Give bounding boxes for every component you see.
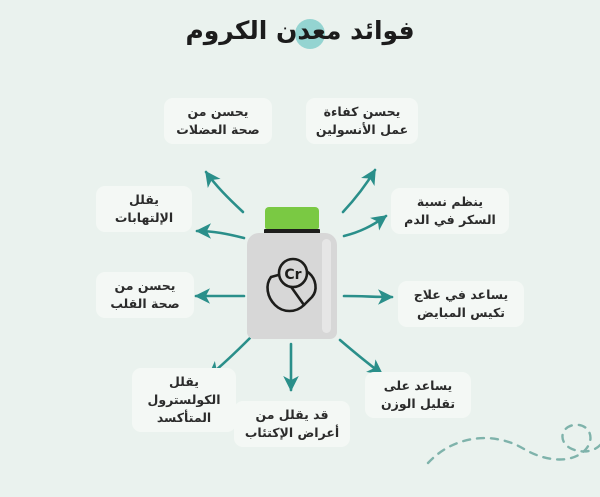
benefit-label-pcos-treatment[interactable]: يساعد في علاج تكيس المبايض: [398, 281, 524, 327]
arrow-insulin-efficiency: [343, 170, 375, 212]
decorative-dashed-swirl: [424, 411, 600, 491]
benefit-label-oxidized-cholesterol[interactable]: يقلل الكولسترول المتأكسد: [132, 368, 236, 432]
infographic-canvas: فوائد معدن الكروم: [0, 0, 600, 497]
arrow-blood-sugar: [344, 216, 386, 236]
benefit-label-inflammation[interactable]: يقلل الإلتهابات: [96, 186, 192, 232]
arrow-muscle-health: [206, 172, 243, 212]
chromium-capsule-icon: Cr: [263, 255, 321, 317]
arrow-weight-loss: [340, 340, 382, 374]
benefit-label-depression[interactable]: قد يقلل من أعراض الإكتئاب: [234, 401, 350, 447]
benefit-label-heart-health[interactable]: يحسن من صحة القلب: [96, 272, 194, 318]
chromium-symbol-text: Cr: [284, 267, 301, 283]
arrow-inflammation: [197, 231, 244, 238]
benefit-label-blood-sugar[interactable]: ينظم نسبة السكر في الدم: [391, 188, 509, 234]
arrow-pcos: [344, 296, 392, 297]
title-text: فوائد معدن الكروم: [185, 16, 414, 45]
chromium-supplement-bottle: Cr: [247, 207, 337, 339]
benefit-label-insulin-efficiency[interactable]: يحسن كفاءة عمل الأنسولين: [306, 98, 418, 144]
benefit-label-muscle-health[interactable]: يحسن من صحة العضلات: [164, 98, 272, 144]
bottle-cap: [265, 207, 319, 229]
